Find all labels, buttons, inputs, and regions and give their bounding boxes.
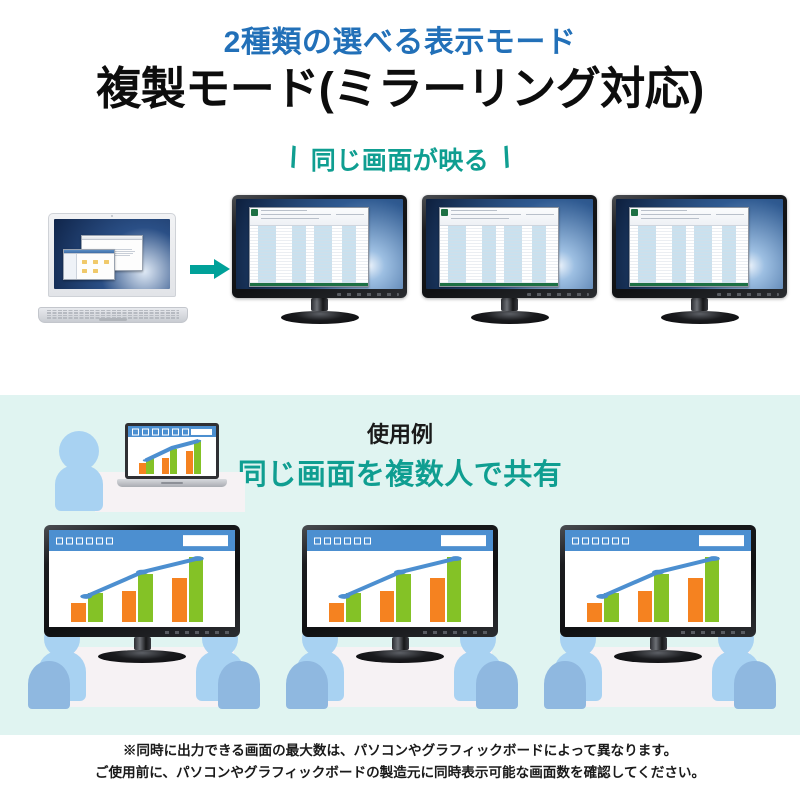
audience-monitor [560,525,756,663]
chart-plot-area [49,551,235,627]
folder-icon [82,269,87,273]
spreadsheet-ribbon [630,208,748,226]
chart-plot-area [128,437,216,476]
arrow-right-icon [190,259,230,279]
window-tabs-icon [132,428,189,435]
chart-window-titlebar [307,530,493,551]
monitor-stand-neck [392,637,409,650]
monitor-stand-base [356,650,444,663]
monitor-stand-base [281,311,359,324]
window-search-field [699,535,744,547]
footnote-line-1: ※同時に出力できる画面の最大数は、パソコンやグラフィックボードによって異なります… [0,740,800,762]
monitor-bezel [612,195,787,298]
laptop-lid [48,213,176,297]
monitor-1 [232,195,407,324]
chart-window [49,530,235,627]
laptop-screen [54,219,170,289]
chart-plot-area [307,551,493,627]
chart-plot-area [565,551,751,627]
spreadsheet-statusbar [630,283,748,286]
monitor-screen [565,530,751,627]
chart-trend-line [307,551,493,627]
chart-trend-line [565,551,751,627]
spreadsheet-statusbar [440,283,558,286]
presenter-laptop [117,423,227,487]
monitor-stand-neck [691,298,708,311]
monitor-screen [236,199,403,289]
chart-window-titlebar [128,426,216,437]
monitor-row [232,195,787,324]
callout-text: 同じ画面が映る [311,141,490,177]
chart-window-titlebar [565,530,751,551]
viewer-foreground-right [218,661,260,709]
monitor-3 [612,195,787,324]
footnote-line-2: ご使用前に、パソコンやグラフィックボードの製造元に同時表示可能な画面数を確認して… [0,762,800,784]
monitor-bezel [560,525,756,637]
monitor-stand-base [614,650,702,663]
spreadsheet-window [629,207,749,287]
audience-group-3 [538,525,778,735]
spreadsheet-statusbar [250,283,368,286]
audience-monitor [44,525,240,663]
monitor-bezel [302,525,498,637]
audience-group-1 [22,525,262,735]
window-search-field [191,428,212,434]
audience-group-2 [280,525,520,735]
folder-icon [82,260,87,264]
mirroring-diagram [0,191,800,351]
laptop-keyboard [47,310,179,317]
chart-window [307,530,493,627]
window-titlebar [82,236,142,240]
monitor-bezel [232,195,407,298]
viewer-foreground-right [734,661,776,709]
footnote: ※同時に出力できる画面の最大数は、パソコンやグラフィックボードによって異なります… [0,740,800,785]
monitor-stand-neck [134,637,151,650]
viewer-foreground-left [28,661,70,709]
chart-window [565,530,751,627]
presenter-group [55,417,245,507]
spreadsheet-grid [250,226,368,283]
callout-banner: \ 同じ画面が映る / [0,141,800,177]
monitor-2 [422,195,597,324]
source-laptop [38,213,188,323]
laptop-keyboard-base [38,307,188,323]
viewer-foreground-left [544,661,586,709]
window-tabs-icon [56,537,113,544]
monitor-stand-base [98,650,186,663]
spreadsheet-grid [630,226,748,283]
monitor-bezel [44,525,240,637]
spreadsheet-window [249,207,369,287]
monitor-stand-neck [311,298,328,311]
presenter-body [55,465,103,511]
audience-row [0,525,800,735]
window-tabs-icon [314,537,371,544]
explorer-window [63,249,115,280]
viewer-foreground-left [286,661,328,709]
viewer-foreground-right [476,661,518,709]
window-tabs-icon [572,537,629,544]
folder-icon [104,260,109,264]
audience-monitor [302,525,498,663]
callout-slash-left: \ [285,142,301,176]
window-search-field [183,535,228,547]
page-title: 複製モード(ミラーリング対応) [0,63,800,115]
monitor-screen [49,530,235,627]
spreadsheet-window [439,207,559,287]
presenter-laptop-lid [125,423,219,479]
spreadsheet-grid [440,226,558,283]
monitor-stand-base [661,311,739,324]
monitor-screen [616,199,783,289]
callout-slash-right: / [499,142,515,176]
spreadsheet-ribbon [250,208,368,226]
explorer-sidebar [64,254,77,279]
chart-trend-line [128,437,216,476]
laptop-camera-icon [111,215,113,217]
chart-trend-line [49,551,235,627]
page-subtitle: 2種類の選べる表示モード [0,26,800,59]
presenter-laptop-base [117,479,227,487]
header: 2種類の選べる表示モード 複製モード(ミラーリング対応) [0,0,800,115]
monitor-stand-neck [650,637,667,650]
monitor-bezel [422,195,597,298]
monitor-stand-neck [501,298,518,311]
usecase-section: 使用例 同じ画面を複数人で共有 [0,395,800,735]
spreadsheet-ribbon [440,208,558,226]
window-search-field [441,535,486,547]
chart-window [128,426,216,476]
monitor-screen [426,199,593,289]
chart-window-titlebar [49,530,235,551]
folder-icon [93,269,98,273]
monitor-screen [307,530,493,627]
folder-icon [93,260,98,264]
monitor-stand-base [471,311,549,324]
